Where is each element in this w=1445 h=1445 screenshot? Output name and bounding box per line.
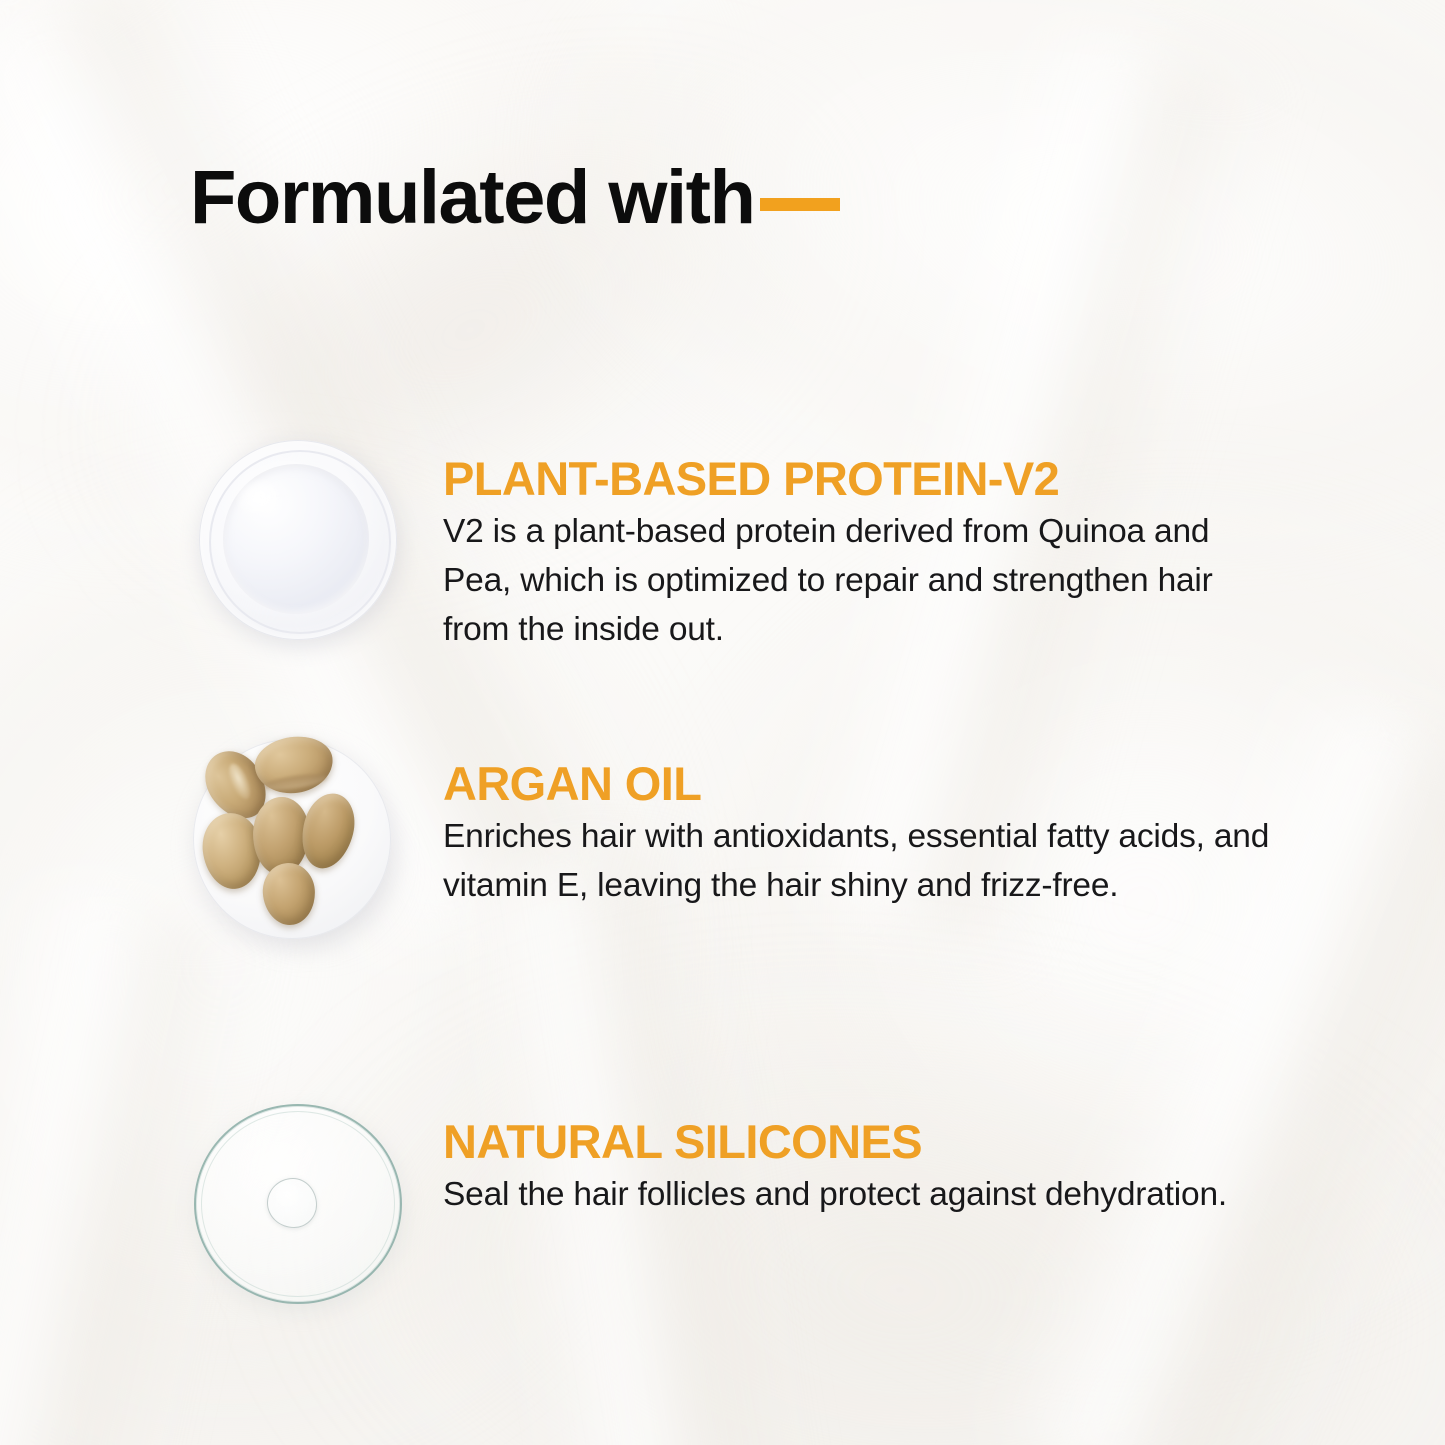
petri-dish-droplet-icon xyxy=(190,1100,405,1310)
ingredient-description: Enriches hair with antioxidants, essenti… xyxy=(443,813,1273,911)
argan-nuts-bowl-icon xyxy=(185,735,425,975)
droplet-icon xyxy=(267,1178,317,1228)
ingredient-visual-natural-silicones xyxy=(185,1090,425,1330)
clear-gel-bowl-icon xyxy=(193,436,407,652)
ingredient-description: Seal the hair follicles and protect agai… xyxy=(443,1171,1273,1220)
ingredient-heading: PLANT-BASED PROTEIN-V2 xyxy=(443,455,1273,504)
ingredient-description: V2 is a plant-based protein derived from… xyxy=(443,508,1273,655)
title-accent-dash-icon xyxy=(760,198,840,211)
ingredient-heading: ARGAN OIL xyxy=(443,760,1273,809)
ingredient-text-argan-oil: ARGAN OIL Enriches hair with antioxidant… xyxy=(443,760,1273,911)
ingredient-text-plant-based-protein-v2: PLANT-BASED PROTEIN-V2 V2 is a plant-bas… xyxy=(443,455,1273,655)
ingredient-heading: NATURAL SILICONES xyxy=(443,1118,1273,1167)
page-header: Formulated with xyxy=(190,160,840,236)
infographic-canvas: Formulated with PLANT-BASED PROTEIN-V2 V… xyxy=(0,0,1445,1445)
ingredient-visual-argan-oil xyxy=(185,735,425,975)
ingredient-visual-plant-based-protein-v2 xyxy=(185,430,425,670)
ingredient-text-natural-silicones: NATURAL SILICONES Seal the hair follicle… xyxy=(443,1118,1273,1220)
page-title: Formulated with xyxy=(190,160,754,236)
